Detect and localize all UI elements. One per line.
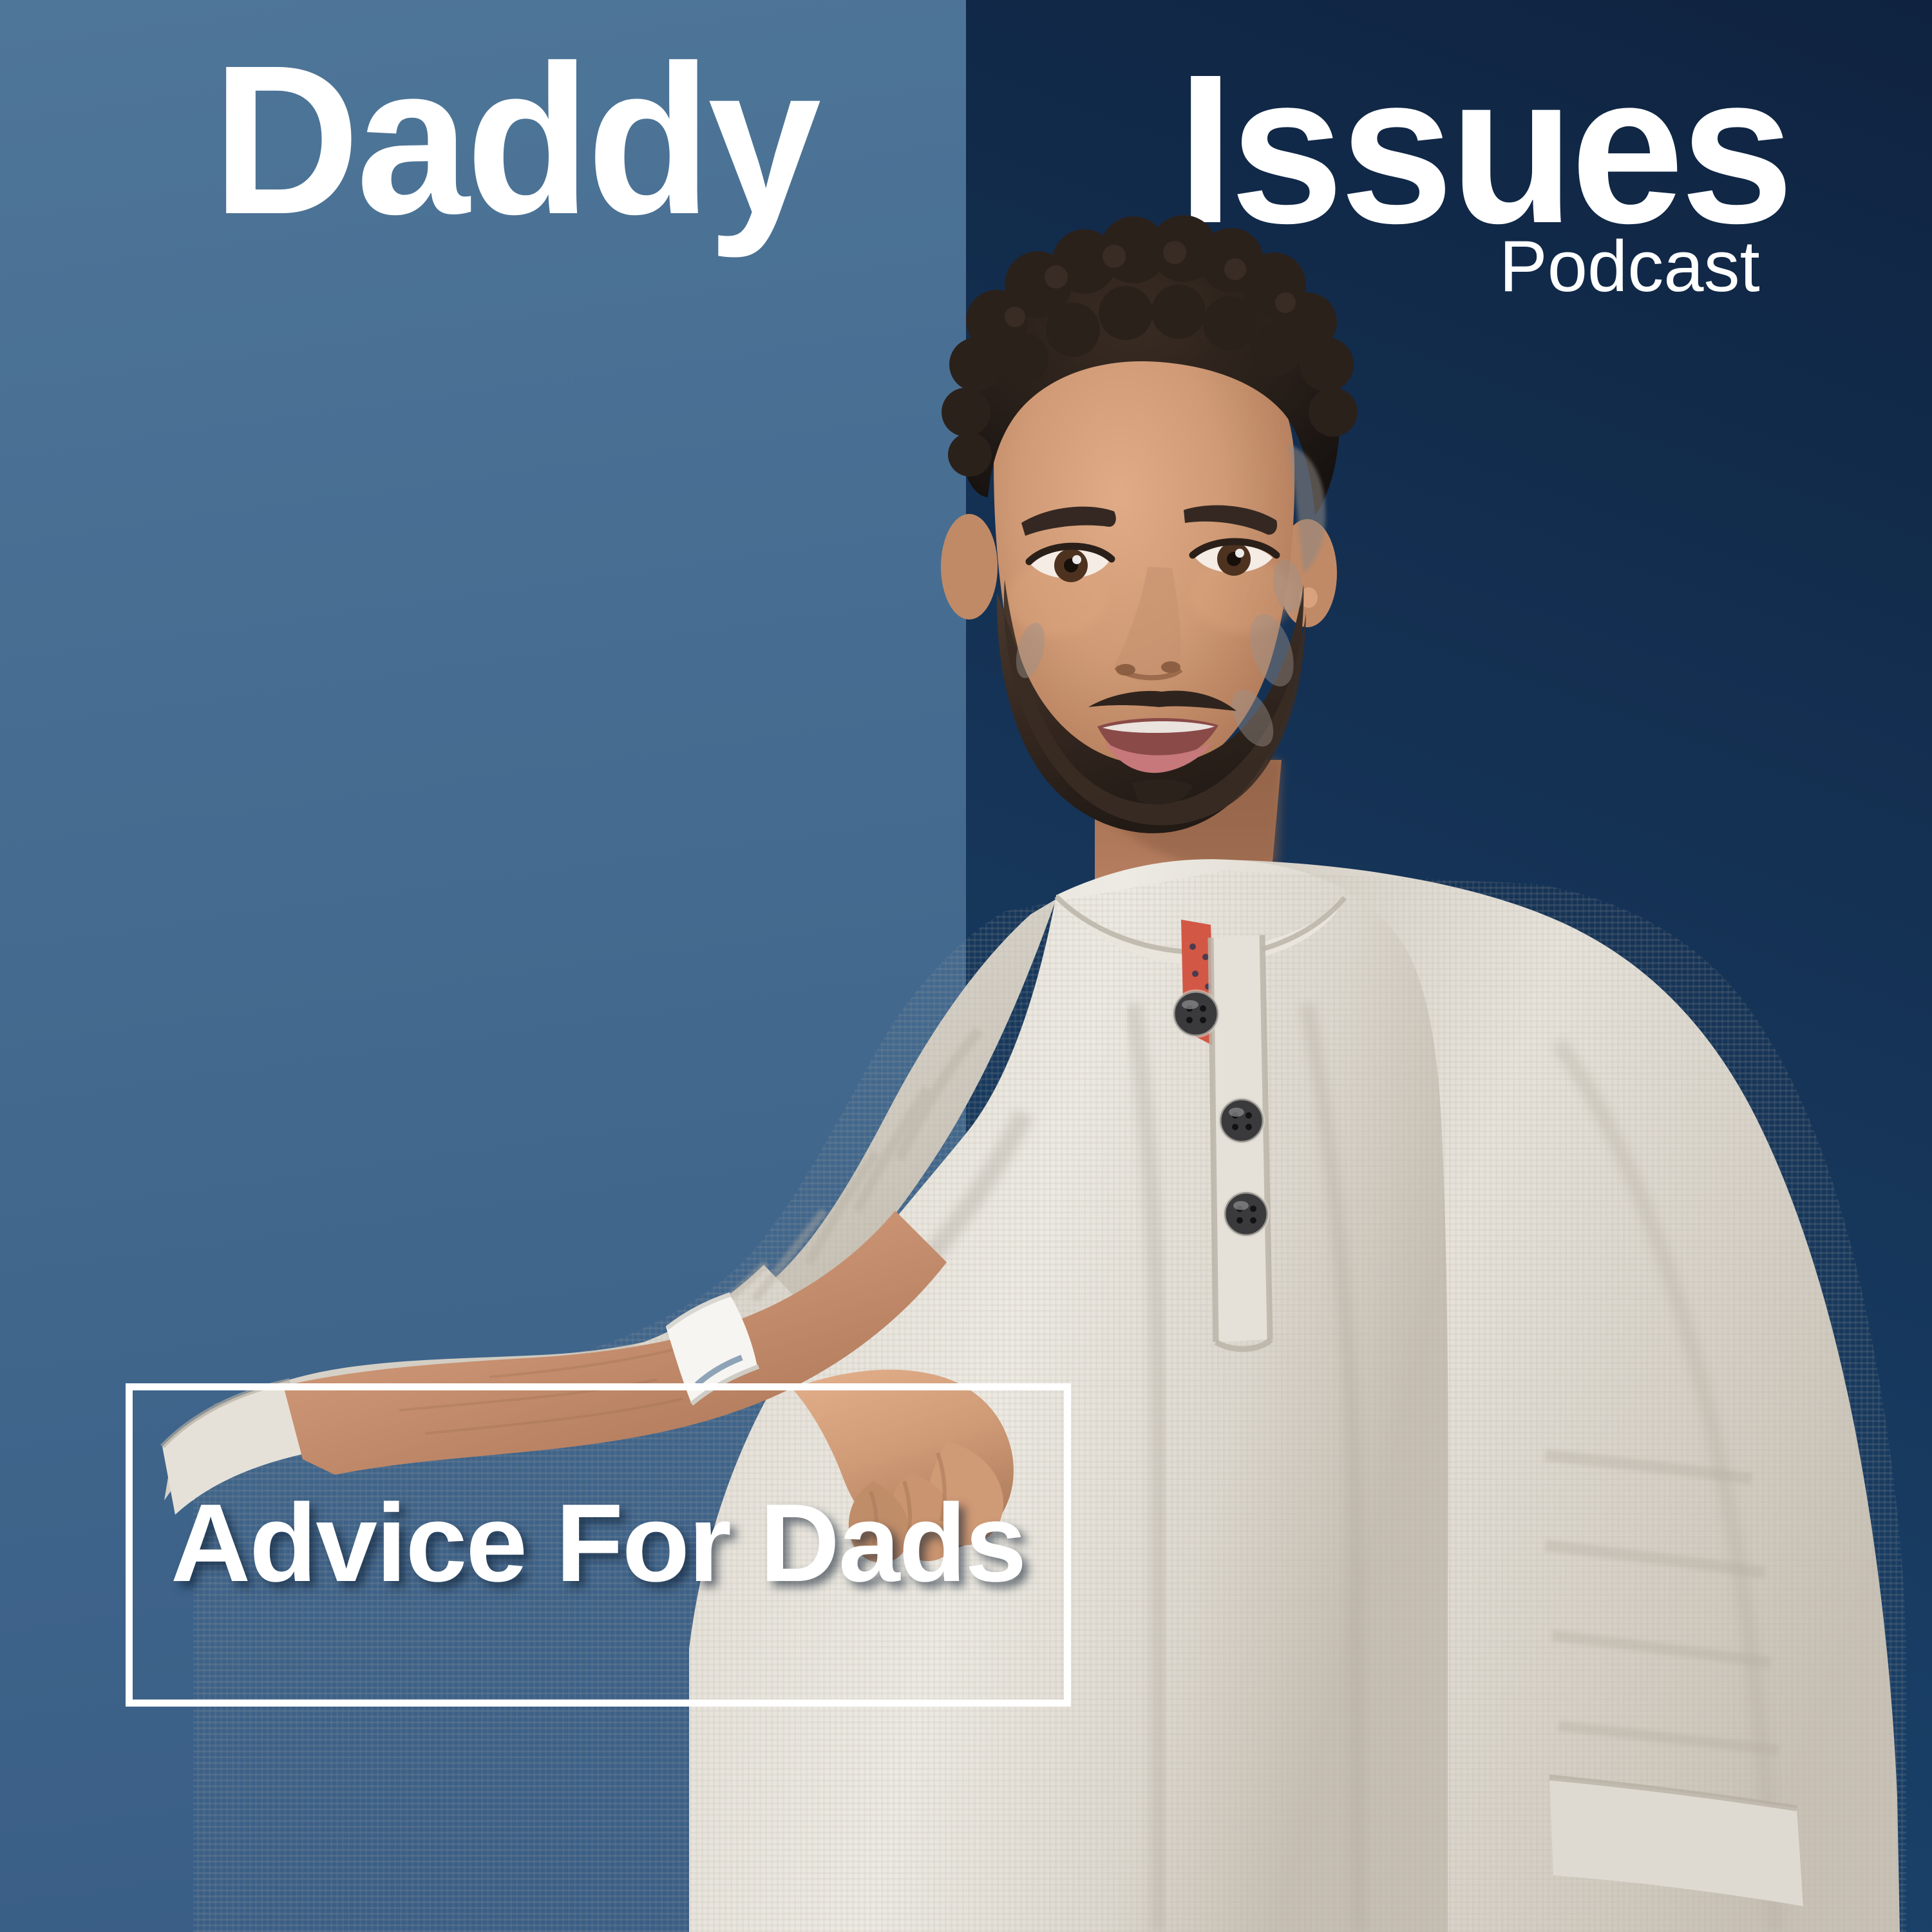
subtitle-podcast: Podcast: [1499, 231, 1760, 303]
title-issues: Issues: [1177, 43, 1790, 255]
background-panel-right: [966, 0, 1932, 1932]
podcast-cover-art: Daddy Issues Podcast Advice For Dads: [0, 0, 1932, 1932]
tagline-advice-for-dads: Advice For Dads: [171, 1488, 1025, 1598]
title-daddy: Daddy: [213, 33, 817, 246]
